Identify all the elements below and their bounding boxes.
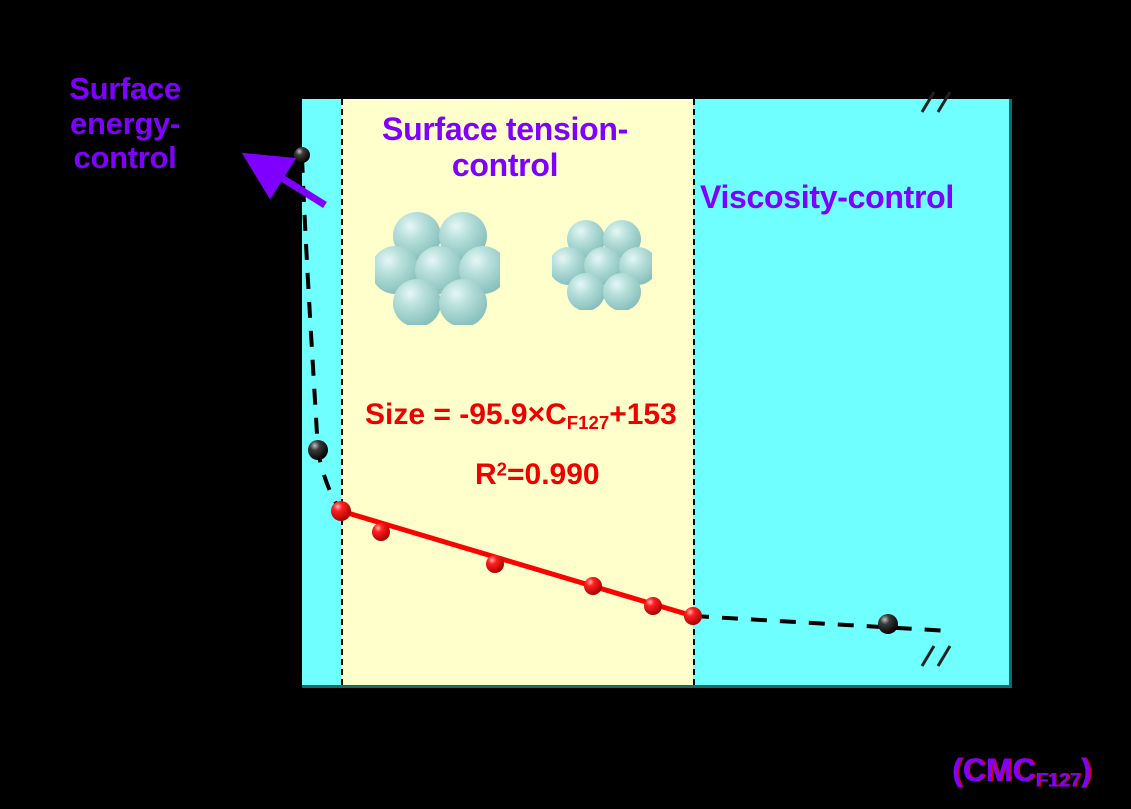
- fit-equation-main: Size = -95.9×C: [365, 398, 567, 431]
- fit-equation-text: Size = -95.9×CF127+153: [365, 398, 677, 434]
- r-squared-value: =0.990: [507, 458, 600, 491]
- region-label-viscosity: Viscosity-control: [700, 180, 1020, 216]
- r-squared-symbol: R: [475, 458, 497, 491]
- region-label-surface-energy: Surface energy- control: [30, 72, 220, 176]
- x-axis-label-open: (CMC: [952, 752, 1036, 788]
- r-squared-exponent: 2: [497, 459, 507, 480]
- micelle-cluster-small-icon: [552, 218, 652, 310]
- region-band-surface-tension: [341, 99, 693, 685]
- fit-equation-subscript: F127: [567, 412, 609, 433]
- figure-canvas: Surface energy- control Surface tension-…: [0, 0, 1131, 809]
- region-divider-right: [693, 99, 695, 685]
- x-axis-label-subscript: F127: [1036, 770, 1081, 792]
- micelle-cluster-large-icon: [375, 210, 500, 325]
- r-squared-text: R2=0.990: [475, 458, 600, 492]
- fit-equation-tail: +153: [609, 398, 677, 431]
- region-label-surface-tension: Surface tension- control: [355, 112, 655, 184]
- region-band-surface-energy: [302, 99, 341, 685]
- x-axis-label-close: ): [1081, 752, 1092, 788]
- x-axis-label: (CMCF127): [952, 752, 1091, 793]
- region-divider-left: [341, 99, 343, 685]
